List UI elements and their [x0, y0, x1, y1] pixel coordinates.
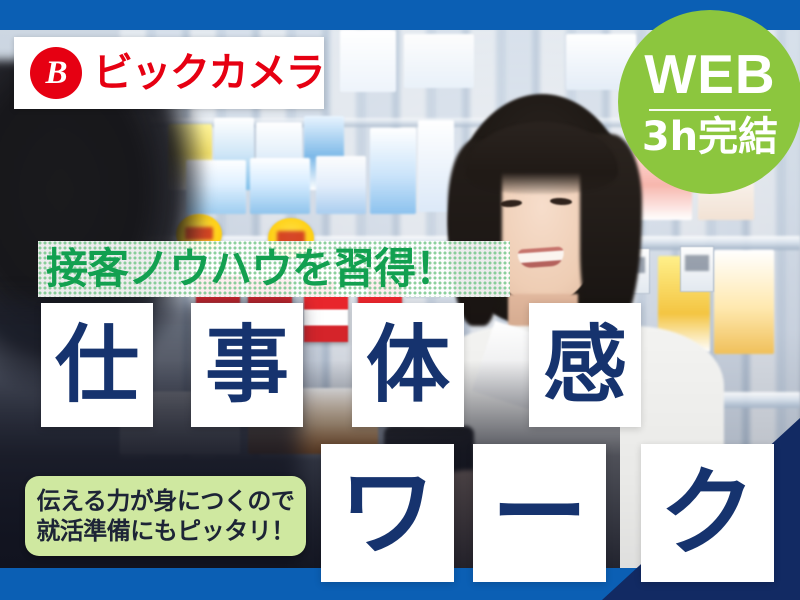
- web-badge-divider: [649, 109, 771, 111]
- kanji-card: ク: [641, 444, 774, 582]
- web-badge-title: WEB: [644, 47, 775, 102]
- benefit-callout-bubble: 伝える力が身につくので 就活準備にもピッタリ！: [25, 476, 306, 556]
- headline-text: 接客ノウハウを習得！: [46, 248, 456, 290]
- product-box: [714, 250, 774, 354]
- product-box: [250, 158, 310, 214]
- brand-wordmark: ビックカメラ: [93, 53, 324, 93]
- kanji-card: 体: [352, 303, 464, 427]
- bubble-line-1: 伝える力が身につくので: [37, 486, 295, 516]
- web-badge[interactable]: WEB 3h完結: [618, 10, 800, 194]
- brand-logo[interactable]: B ビックカメラ: [14, 37, 324, 109]
- bic-b-icon: B: [30, 47, 82, 99]
- kanji-card: ー: [473, 444, 606, 582]
- bic-b-icon-letter: B: [30, 47, 82, 99]
- product-box: [340, 30, 396, 92]
- bubble-line-2: 就活準備にもピッタリ！: [36, 516, 295, 546]
- product-box: [404, 34, 474, 88]
- banner-root: B ビックカメラ WEB 3h完結 接客ノウハウを習得！ 仕 事 体 感 ワ ー…: [0, 0, 800, 600]
- product-box: [370, 128, 416, 214]
- headline-band: 接客ノウハウを習得！: [38, 241, 510, 297]
- product-box: [316, 156, 366, 214]
- kanji-card: 感: [529, 303, 641, 427]
- kanji-card: 仕: [41, 303, 153, 427]
- kanji-card: ワ: [321, 444, 454, 582]
- kanji-card: 事: [191, 303, 303, 427]
- web-badge-subtitle: 3h完結: [642, 117, 778, 157]
